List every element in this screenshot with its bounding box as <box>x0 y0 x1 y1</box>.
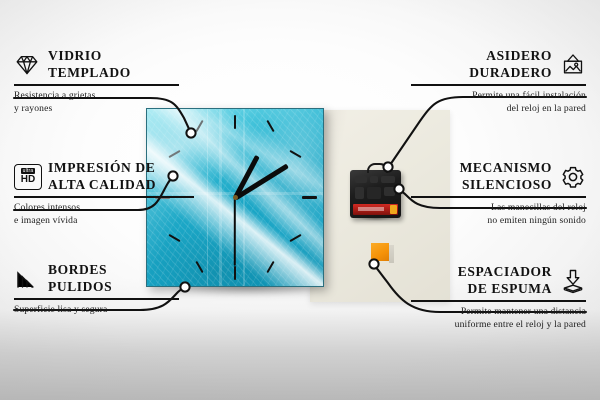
feature-description: Permite mantener una distancia uniforme … <box>411 306 586 331</box>
title-rule <box>411 196 586 197</box>
ultra-hd-badge-icon: ultra HD <box>14 164 40 190</box>
feature-title: ESPACIADOR DE ESPUMA <box>458 264 552 297</box>
title-rule <box>14 298 179 299</box>
feature-description: Superficie lisa y segura <box>14 304 179 317</box>
aa-battery <box>353 204 398 215</box>
foam-spacer-arrow-icon <box>560 268 586 294</box>
clock-movement <box>350 170 401 218</box>
foam-spacer <box>371 243 389 261</box>
feature-title: MECANISMO SILENCIOSO <box>460 160 552 193</box>
feature-mecanismo-silencioso: MECANISMO SILENCIOSO Las manecillas del … <box>411 160 586 227</box>
title-rule <box>411 84 586 85</box>
infographic-canvas: VIDRIO TEMPLADO Resistencia a grietas y … <box>0 0 600 400</box>
hd-badge-main-text: HD <box>21 175 35 185</box>
battery-positive-terminal <box>390 205 397 214</box>
title-rule <box>14 84 179 85</box>
picture-hanger-icon <box>560 52 586 78</box>
feature-title: ASIDERO DURADERO <box>469 48 552 81</box>
polished-edges-icon <box>14 266 40 292</box>
feature-vidrio-templado: VIDRIO TEMPLADO Resistencia a grietas y … <box>14 48 179 115</box>
feature-espaciador-de-espuma: ESPACIADOR DE ESPUMA Permite mantener un… <box>411 264 586 331</box>
feature-description: Colores intensos e imagen vívida <box>14 202 194 227</box>
feature-impresion-alta-calidad: ultra HD IMPRESIÓN DE ALTA CALIDAD Color… <box>14 160 194 227</box>
feature-title: IMPRESIÓN DE ALTA CALIDAD <box>48 160 156 193</box>
foam-spacer-side <box>389 245 394 263</box>
diamond-icon <box>14 52 40 78</box>
feature-description: Permite una fácil instalación del reloj … <box>411 90 586 115</box>
hanger-hook <box>367 163 388 173</box>
feature-title: BORDES PULIDOS <box>48 262 112 295</box>
feature-description: Las manecillas del reloj no emiten ningú… <box>411 202 586 227</box>
gear-icon <box>560 164 586 190</box>
feature-bordes-pulidos: BORDES PULIDOS Superficie lisa y segura <box>14 262 179 317</box>
feature-description: Resistencia a grietas y rayones <box>14 90 179 115</box>
feature-asidero-duradero: ASIDERO DURADERO Permite una fácil insta… <box>411 48 586 115</box>
feature-title: VIDRIO TEMPLADO <box>48 48 131 81</box>
title-rule <box>411 300 586 301</box>
title-rule <box>14 196 194 197</box>
